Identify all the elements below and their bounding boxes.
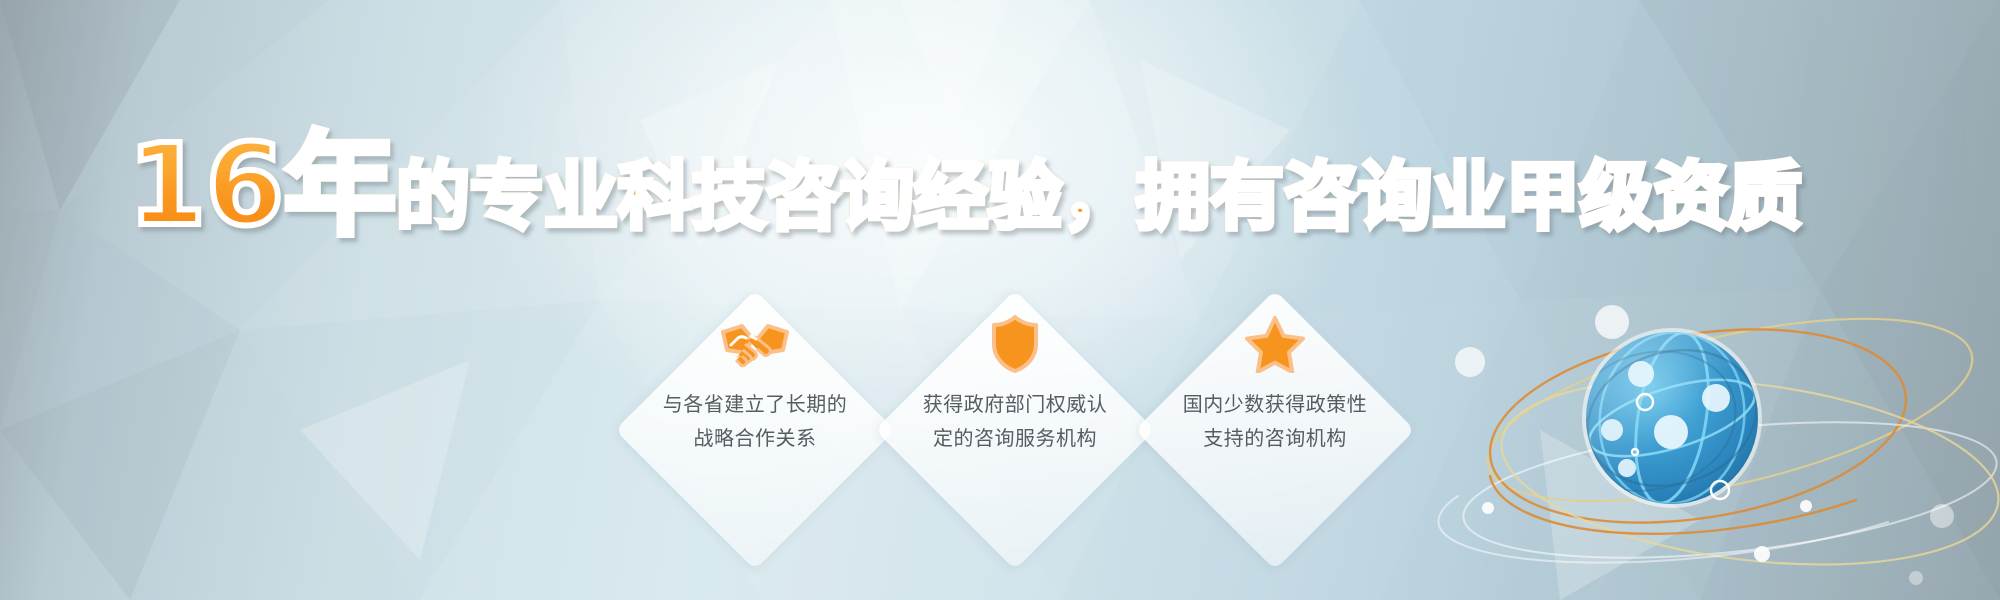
globe-icon [1549,322,1774,514]
feature-card-authority[interactable]: 获得政府部门权威认 定的咨询服务机构 [875,290,1155,570]
feature-card-text: 国内少数获得政策性 支持的咨询机构 [1125,387,1425,456]
feature-line-1: 国内少数获得政策性 [1125,387,1425,421]
globe-decoration [1430,240,2000,600]
promo-banner: 16年 的专业科技咨询经验，拥有咨询业甲级资质 [0,0,2000,600]
star-icon [1240,313,1310,375]
feature-card-partnership[interactable]: 与各省建立了长期的 战略合作关系 [615,290,895,570]
feature-line-2: 支持的咨询机构 [1125,421,1425,455]
feature-card-policy[interactable]: 国内少数获得政策性 支持的咨询机构 [1135,290,1415,570]
handshake-icon [720,313,790,375]
shield-icon [980,313,1050,375]
